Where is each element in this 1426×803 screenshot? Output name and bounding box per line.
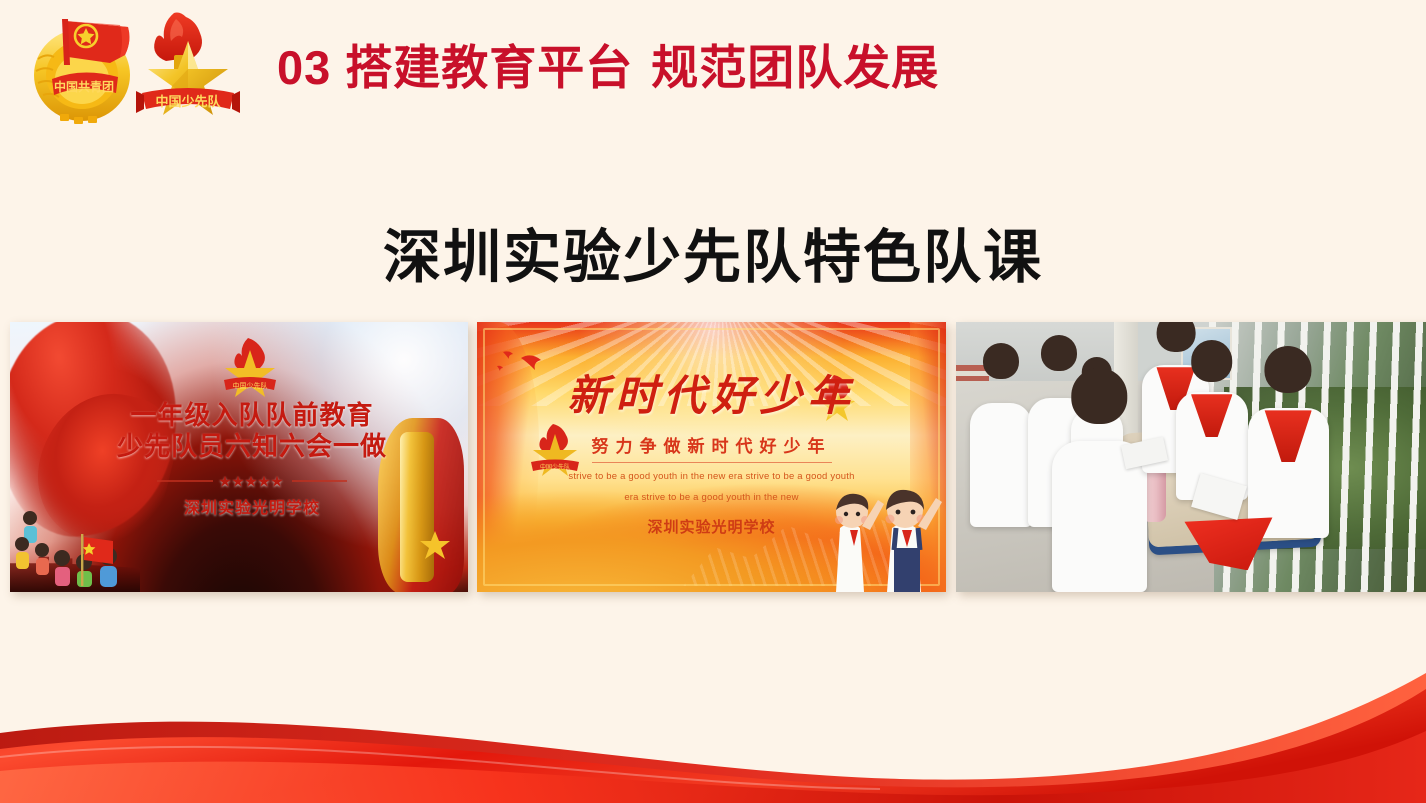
cyl-banner-text: 中国共青团 (54, 79, 114, 94)
poster1-line2: 少先队员六知六会一做 (102, 431, 402, 464)
poster1-line1: 一年级入队队前教育 (102, 400, 402, 431)
header-title: 03搭建教育平台规范团队发展 (277, 44, 939, 91)
gallery-item-poster-grade-one[interactable]: 中国少先队 一年级入队队前教育 少先队员六知六会一做 ★★★★★ 深圳实验光明学… (10, 322, 468, 592)
cartoon-saluting-students-icon (826, 470, 944, 592)
poster2-headline: 新时代好少年 (477, 374, 946, 420)
poster1-school-name: 深圳实验光明学校 (102, 494, 402, 518)
slide-header: 中国共青团 (0, 0, 1426, 135)
young-pioneers-star-icon: 中国少先队 (218, 336, 282, 400)
student-figure (970, 403, 1032, 527)
slide-root: 中国共青团 (0, 0, 1426, 803)
section-number: 03 (277, 41, 331, 94)
poster2-subhead: 努力争做新时代好少年 (592, 432, 832, 463)
header-title-part2: 规范团队发展 (651, 41, 939, 94)
red-ribbon-wave-decoration (0, 653, 1426, 803)
image-gallery: 中国少先队 一年级入队队前教育 少先队员六知六会一做 ★★★★★ 深圳实验光明学… (0, 322, 1426, 597)
emblem-group: 中国共青团 (18, 5, 253, 130)
poster-grade-one-artwork: 中国少先队 一年级入队队前教育 少先队员六知六会一做 ★★★★★ 深圳实验光明学… (10, 322, 468, 592)
gallery-item-photo-students[interactable]: 学生在走廊课桌旁进行少先队红领巾活动 (956, 322, 1426, 592)
poster1-star-divider: ★★★★★ (157, 473, 347, 489)
national-flag-icon (80, 534, 114, 586)
poster1-text-block: 一年级入队队前教育 少先队员六知六会一做 ★★★★★ 深圳实验光明学校 (102, 400, 402, 518)
yp-banner-text: 中国少先队 (155, 94, 221, 109)
divider-rule-left (157, 480, 213, 482)
header-title-part1: 搭建教育平台 (345, 41, 633, 94)
gold-star-icon (420, 530, 450, 560)
photo-students-red-scarf-activity: 学生在走廊课桌旁进行少先队红领巾活动 (956, 322, 1426, 592)
young-pioneers-emblem: 中国少先队 (118, 7, 248, 127)
poster-new-era-artwork: 中国少先队 新时代好少年 努力争做新时代好少年 strive to be a g… (477, 322, 946, 592)
svg-text:中国少先队: 中国少先队 (233, 381, 268, 390)
divider-rule-right (292, 480, 348, 482)
cartoon-children-icon (12, 498, 132, 588)
page-title: 深圳实验少先队特色队课 (0, 226, 1426, 290)
poster1-stars: ★★★★★ (220, 473, 285, 489)
gallery-item-poster-new-era[interactable]: 中国少先队 新时代好少年 努力争做新时代好少年 strive to be a g… (477, 322, 946, 592)
